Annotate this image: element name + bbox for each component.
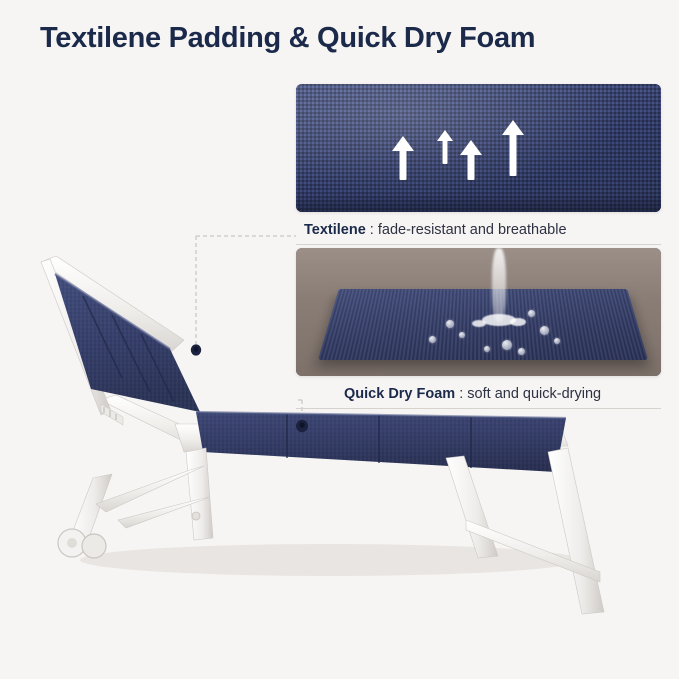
breathability-arrow-2 <box>437 130 453 164</box>
caption-quick-dry-foam: Quick Dry Foam : soft and quick-drying <box>344 386 601 402</box>
water-droplet-4 <box>540 326 549 335</box>
caption-textilene-separator: : <box>366 222 378 238</box>
caption-textilene-description: fade-resistant and breathable <box>378 222 567 238</box>
weave-bottom-shadow <box>296 194 661 212</box>
water-droplet-7 <box>502 340 512 350</box>
water-droplet-1 <box>446 320 454 328</box>
divider-quick-dry-foam <box>296 408 661 409</box>
caption-textilene-label: Textilene <box>304 222 366 238</box>
water-stream <box>492 248 506 322</box>
breathability-arrow-1 <box>392 136 414 180</box>
product-feature-infographic: Textilene Padding & Quick Dry Foam <box>0 0 679 679</box>
water-droplet-8 <box>484 346 490 352</box>
water-splash-3 <box>510 318 526 326</box>
textilene-weave-photo <box>296 84 661 212</box>
breathability-arrow-3 <box>460 140 482 180</box>
quick-dry-foam-photo <box>296 248 661 376</box>
divider-textilene <box>296 244 661 245</box>
caption-foam-label: Quick Dry Foam <box>344 386 455 402</box>
water-droplet-9 <box>518 348 525 355</box>
water-droplet-6 <box>429 336 436 343</box>
breathability-arrow-4 <box>501 120 525 176</box>
water-splash-2 <box>472 320 486 327</box>
water-droplet-3 <box>528 310 535 317</box>
caption-foam-separator: : <box>455 386 467 402</box>
water-droplet-2 <box>459 332 465 338</box>
caption-textilene: Textilene : fade-resistant and breathabl… <box>304 222 567 238</box>
caption-foam-description: soft and quick-drying <box>467 386 601 402</box>
water-droplet-5 <box>554 338 560 344</box>
